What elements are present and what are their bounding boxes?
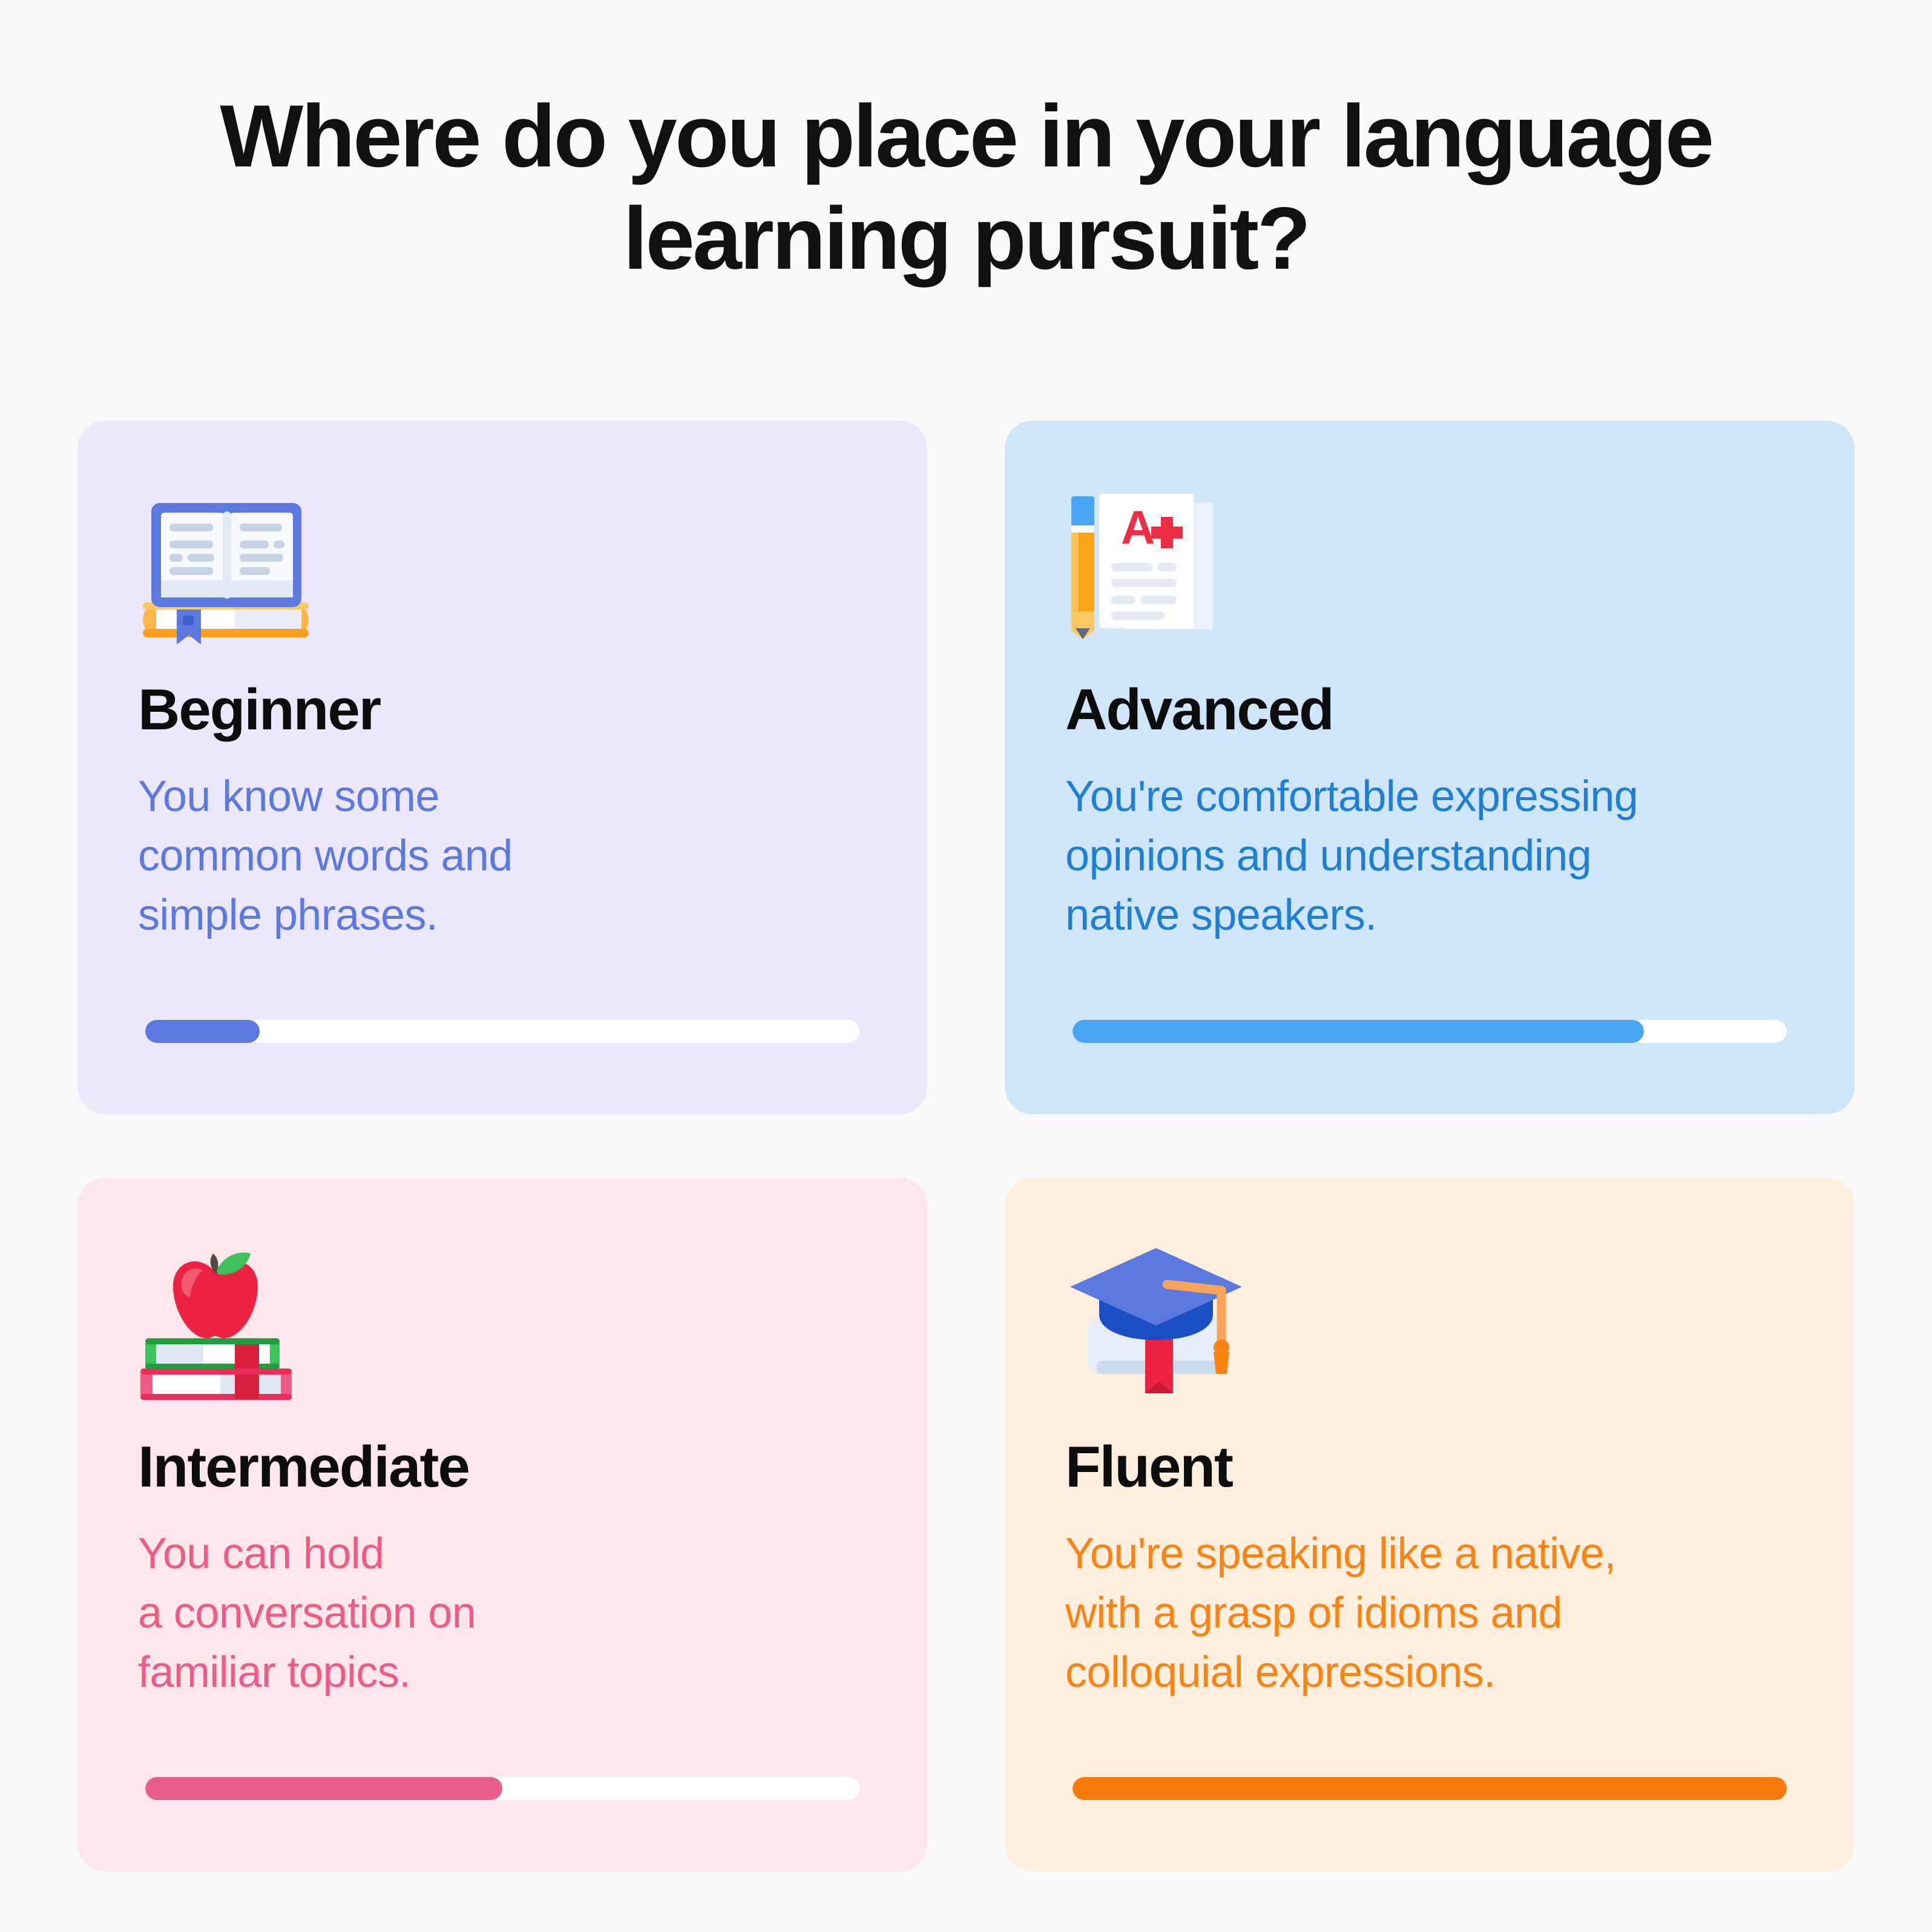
card-title: Beginner [138, 680, 867, 741]
card-description: You're comfortable expressing opinions a… [1065, 767, 1794, 945]
progress-fill [145, 1020, 260, 1043]
card-description: You can hold a conversation on familiar … [138, 1525, 867, 1703]
pencil-and-graded-paper-icon: A [1065, 464, 1794, 646]
level-card-grid: Beginner You know some common words and … [77, 421, 1855, 1871]
page-title: Where do you place in your language lear… [0, 85, 1932, 290]
level-card-advanced[interactable]: A Advanced You're comfortable expressing… [1005, 421, 1855, 1114]
progress-bar-beginner [145, 1020, 859, 1043]
progress-fill [1073, 1777, 1787, 1800]
graduation-cap-icon [1065, 1221, 1794, 1403]
level-card-beginner[interactable]: Beginner You know some common words and … [77, 421, 927, 1114]
progress-bar-intermediate [145, 1777, 859, 1800]
card-description: You know some common words and simple ph… [138, 767, 867, 945]
level-card-intermediate[interactable]: Intermediate You can hold a conversation… [77, 1178, 927, 1871]
progress-fill [145, 1777, 502, 1800]
open-book-icon [138, 464, 867, 646]
language-level-selector-page: Where do you place in your language lear… [0, 0, 1932, 1932]
apple-on-books-icon [138, 1221, 867, 1403]
card-title: Advanced [1065, 680, 1794, 741]
grade-label: A [1121, 501, 1155, 554]
level-card-fluent[interactable]: Fluent You're speaking like a native, wi… [1005, 1178, 1855, 1871]
progress-fill [1073, 1020, 1644, 1043]
card-title: Intermediate [138, 1437, 867, 1498]
card-description: You're speaking like a native, with a gr… [1065, 1525, 1794, 1703]
progress-bar-advanced [1073, 1020, 1787, 1043]
card-title: Fluent [1065, 1437, 1794, 1498]
progress-bar-fluent [1073, 1777, 1787, 1800]
